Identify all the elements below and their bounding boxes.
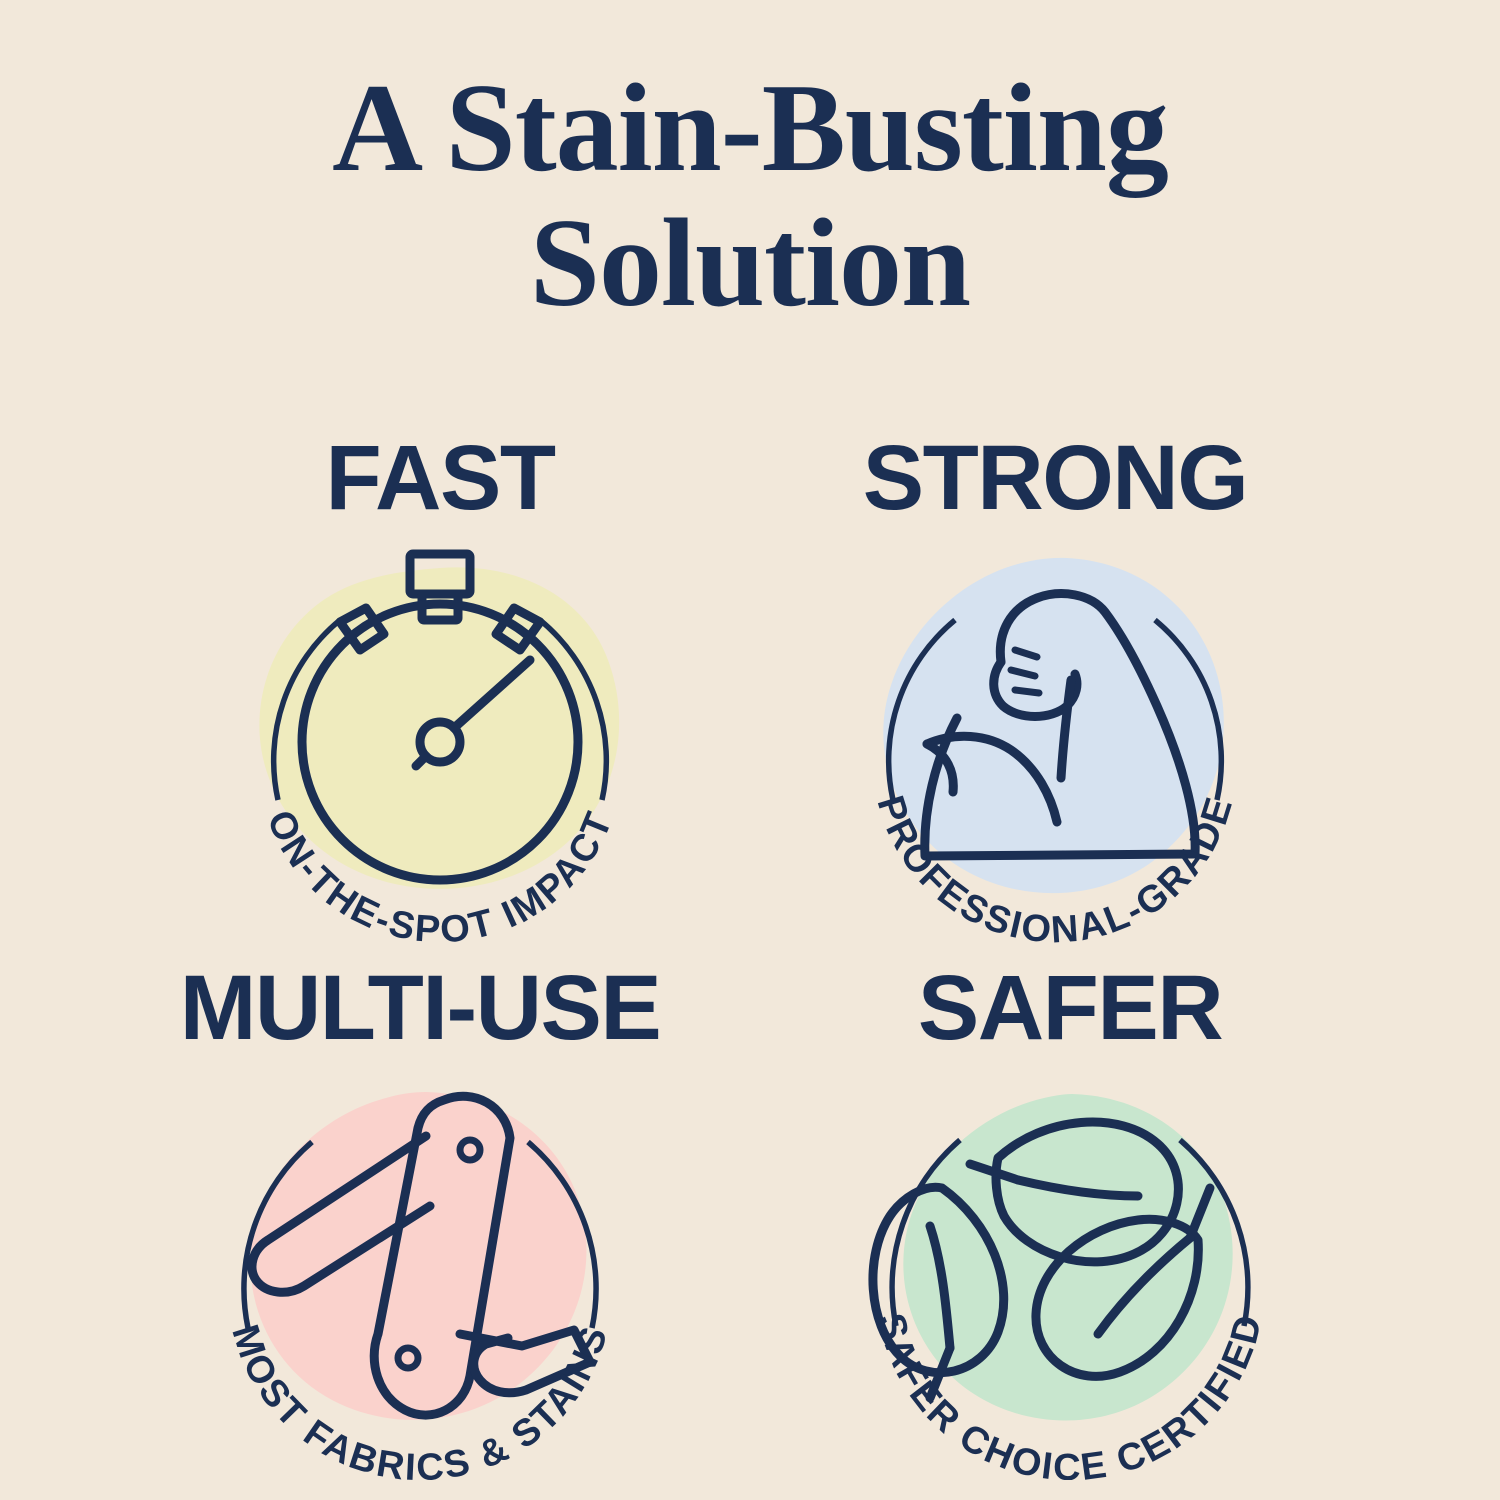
marketing-infographic: A Stain-Busting Solution FAST [0, 0, 1500, 1500]
page-title-line-1: A Stain-Busting [0, 62, 1500, 197]
feature-badge-safer-art: SAFER CHOICE CERTIFIED [820, 1040, 1320, 1480]
blob-shape-blue [883, 558, 1224, 893]
feature-badge-multi-use-art: MOST FABRICS & STAINS [170, 1040, 670, 1480]
feature-badge-strong-art: PROFESSIONAL-GRADE [805, 510, 1305, 950]
page-title-line-2: Solution [0, 197, 1500, 332]
feature-badge-fast-art: ON-THE-SPOT IMPACT [190, 510, 690, 950]
feature-badge-safer: SAFER [790, 962, 1350, 1482]
feature-badge-fast: FAST [160, 432, 720, 952]
page-title: A Stain-Busting Solution [0, 62, 1500, 332]
feature-badge-strong: STRONG [775, 432, 1335, 952]
feature-badge-multi-use: MULTI-USE [140, 962, 700, 1482]
